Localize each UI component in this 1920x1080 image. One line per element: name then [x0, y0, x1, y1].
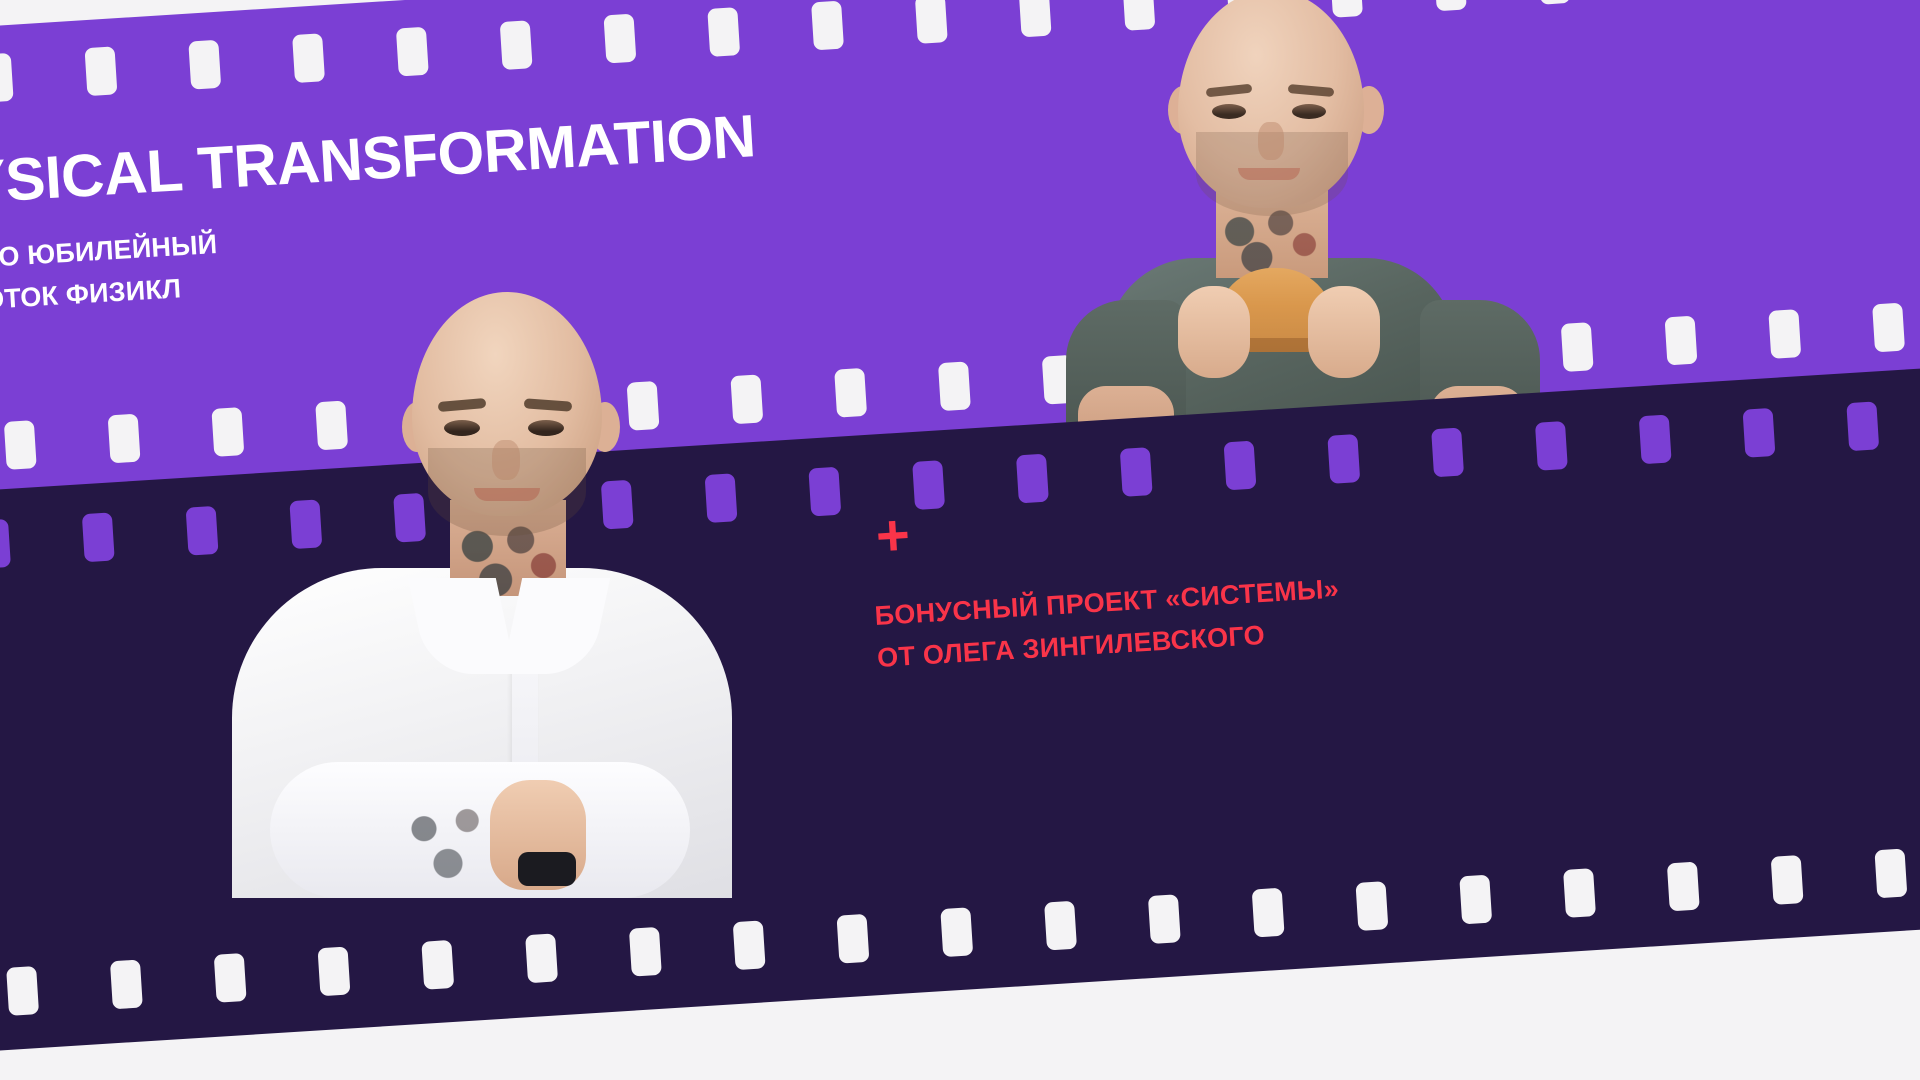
film-perforation — [214, 953, 247, 1003]
film-perforation — [84, 46, 117, 96]
film-perforation — [6, 966, 39, 1016]
film-perforation — [1665, 316, 1698, 366]
film-perforation — [836, 914, 869, 964]
film-perforation — [0, 53, 14, 103]
film-perforation — [1120, 447, 1153, 497]
film-perforation — [500, 20, 533, 70]
film-perforation — [1535, 421, 1568, 471]
burger-man-eye-left — [1212, 104, 1246, 119]
burger-man-hand-right — [1308, 286, 1380, 378]
film-perforation — [318, 946, 351, 996]
film-perforation — [396, 27, 429, 77]
shirt-man-watch — [518, 852, 576, 886]
promo-banner: YSICAL TRANSFORMATION РО ЮБИЛЕЙНЫЙ ОТОК … — [0, 0, 1920, 1080]
film-perforation — [1563, 868, 1596, 918]
film-perforation — [940, 907, 973, 957]
film-perforation — [188, 40, 221, 90]
film-perforation — [1459, 875, 1492, 925]
shirt-man-eye-left — [444, 420, 480, 436]
film-perforation — [1431, 428, 1464, 478]
burger-man-hand-left — [1178, 286, 1250, 378]
film-perforation — [1639, 414, 1672, 464]
film-perforation — [938, 361, 971, 411]
film-perforation — [1771, 855, 1804, 905]
film-perforation — [811, 1, 844, 51]
film-perforation — [1327, 434, 1360, 484]
film-perforation — [1743, 408, 1776, 458]
photo-man-with-burger — [1020, 0, 1580, 452]
film-perforation — [603, 14, 636, 64]
film-perforation — [808, 467, 841, 517]
film-perforation — [525, 933, 558, 983]
film-perforation — [707, 7, 740, 57]
shirt-man-nose — [492, 440, 520, 480]
film-perforation — [4, 420, 37, 470]
film-perforation — [1044, 901, 1077, 951]
shirt-man-mouth — [474, 488, 540, 501]
film-perforation — [1768, 309, 1801, 359]
film-perforation — [1846, 401, 1879, 451]
film-perforation — [0, 519, 11, 569]
film-perforation — [292, 33, 325, 83]
burger-man-nose — [1258, 122, 1284, 160]
photo-man-white-shirt — [212, 292, 772, 892]
film-perforation — [629, 927, 662, 977]
film-perforation — [733, 920, 766, 970]
film-perforation — [912, 460, 945, 510]
film-perforation — [1224, 441, 1257, 491]
film-perforation — [1016, 454, 1049, 504]
burger-man-mouth — [1238, 168, 1300, 180]
burger-man-eye-right — [1292, 104, 1326, 119]
film-perforation — [110, 960, 143, 1010]
film-perforation — [834, 368, 867, 418]
film-perforation — [1148, 894, 1181, 944]
film-perforation — [1252, 888, 1285, 938]
film-perforation — [82, 512, 115, 562]
film-perforation — [108, 414, 141, 464]
subtitle-block: РО ЮБИЛЕЙНЫЙ ОТОК ФИЗИКЛ — [0, 224, 221, 322]
film-perforation — [1874, 849, 1907, 899]
film-perforation — [1667, 862, 1700, 912]
shirt-man-eye-right — [528, 420, 564, 436]
film-perforation — [915, 0, 948, 44]
perforation-row-top-purple — [0, 0, 1920, 112]
film-perforation — [1872, 303, 1905, 353]
plus-icon: + — [874, 506, 911, 566]
film-perforation — [421, 940, 454, 990]
film-perforation — [1355, 881, 1388, 931]
